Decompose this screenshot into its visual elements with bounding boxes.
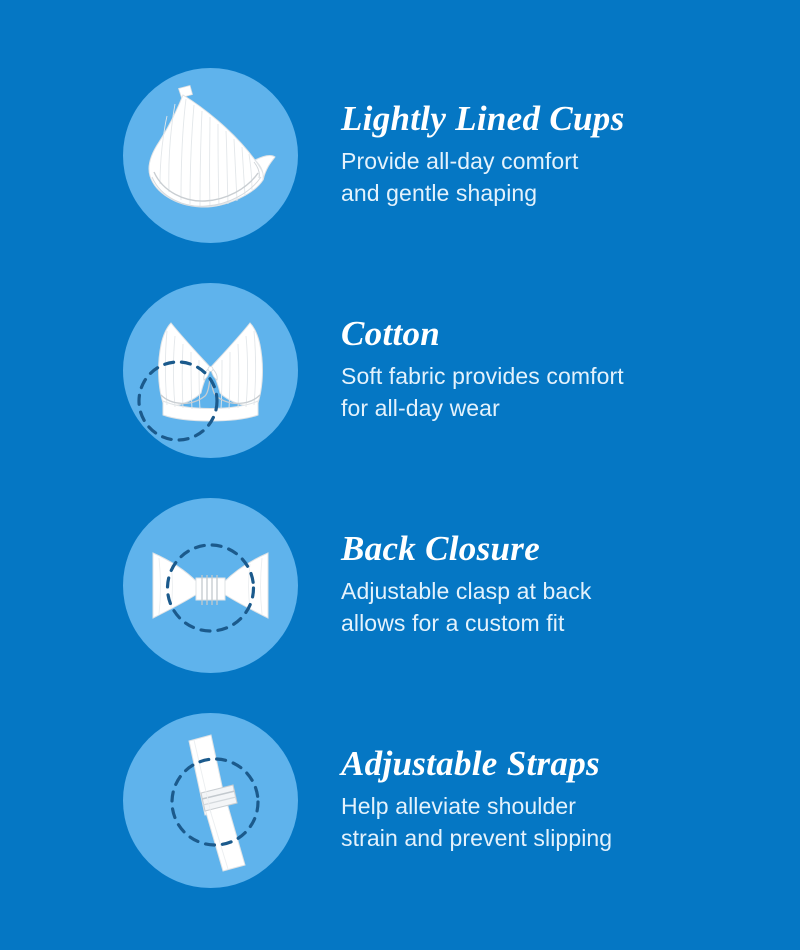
feature-title: Lightly Lined Cups xyxy=(341,101,776,138)
icon-badge-cotton xyxy=(123,283,298,458)
feature-text: Back Closure Adjustable clasp at back al… xyxy=(341,531,800,639)
feature-row: Back Closure Adjustable clasp at back al… xyxy=(0,498,800,673)
feature-description: Provide all-day comfort and gentle shapi… xyxy=(341,146,776,209)
icon-badge-lightly-lined-cups xyxy=(123,68,298,243)
feature-title: Back Closure xyxy=(341,531,776,568)
cotton-bra-icon xyxy=(123,283,298,458)
feature-description: Adjustable clasp at back allows for a cu… xyxy=(341,576,776,639)
feature-description-line: Adjustable clasp at back xyxy=(341,576,776,608)
feature-title: Adjustable Straps xyxy=(341,746,776,783)
feature-description: Help alleviate shoulder strain and preve… xyxy=(341,791,776,854)
feature-description: Soft fabric provides comfort for all-day… xyxy=(341,361,776,424)
feature-description-line: Help alleviate shoulder xyxy=(341,791,776,823)
feature-description-line: Soft fabric provides comfort xyxy=(341,361,776,393)
feature-text: Lightly Lined Cups Provide all-day comfo… xyxy=(341,101,800,209)
feature-title: Cotton xyxy=(341,316,776,353)
icon-badge-adjustable-straps xyxy=(123,713,298,888)
back-closure-icon xyxy=(123,498,298,673)
feature-row: Adjustable Straps Help alleviate shoulde… xyxy=(0,713,800,888)
feature-row: Lightly Lined Cups Provide all-day comfo… xyxy=(0,68,800,243)
feature-description-line: strain and prevent slipping xyxy=(341,823,776,855)
feature-description-line: and gentle shaping xyxy=(341,178,776,210)
feature-row: Cotton Soft fabric provides comfort for … xyxy=(0,283,800,458)
feature-description-line: Provide all-day comfort xyxy=(341,146,776,178)
feature-text: Adjustable Straps Help alleviate shoulde… xyxy=(341,746,800,854)
feature-description-line: for all-day wear xyxy=(341,393,776,425)
bra-cup-icon xyxy=(123,68,298,243)
adjustable-strap-icon xyxy=(123,713,298,888)
feature-description-line: allows for a custom fit xyxy=(341,608,776,640)
icon-badge-back-closure xyxy=(123,498,298,673)
feature-text: Cotton Soft fabric provides comfort for … xyxy=(341,316,800,424)
features-list: Lightly Lined Cups Provide all-day comfo… xyxy=(0,0,800,950)
